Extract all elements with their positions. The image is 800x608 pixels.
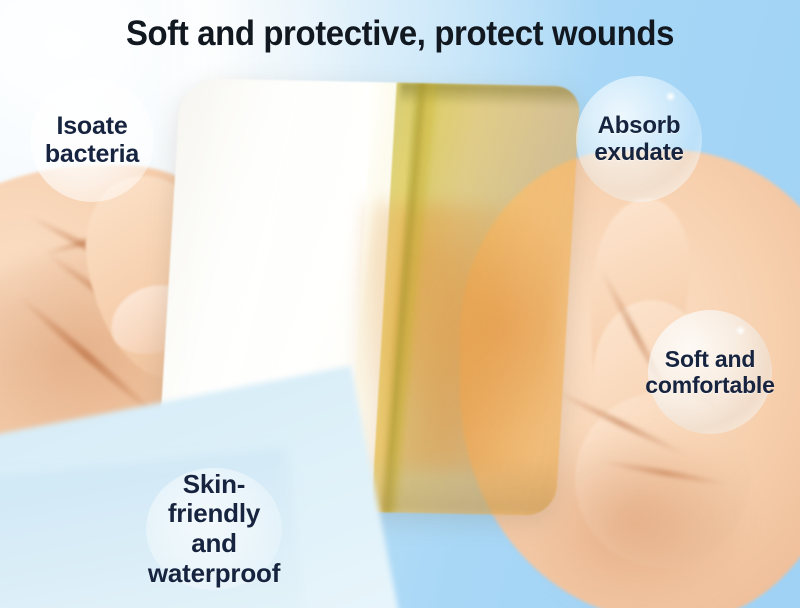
feature-bubble-absorb-exudate-text: Absorb exudate	[576, 112, 702, 167]
product-feature-image: Skin-friendly and waterproof Isoate bact…	[0, 0, 800, 608]
feature-label-line1: Absorb	[576, 112, 702, 139]
feature-label-line1: Skin-friendly	[146, 470, 282, 529]
feature-label-line2: bacteria	[30, 140, 154, 169]
feature-label-line2: comfortable	[645, 372, 774, 398]
feature-bubble-soft-comfortable: Soft and comfortable	[648, 310, 772, 434]
feature-bubble-skin-friendly-text: Skin-friendly and waterproof	[146, 470, 282, 589]
feature-bubble-isolate-bacteria-text: Isoate bacteria	[30, 112, 154, 169]
feature-label-line2: exudate	[576, 139, 702, 166]
headline-title: Soft and protective, protect wounds	[24, 14, 776, 54]
feature-bubble-skin-friendly: Skin-friendly and waterproof	[146, 468, 282, 590]
feature-bubble-soft-comfortable-text: Soft and comfortable	[645, 346, 774, 398]
feature-bubble-isolate-bacteria: Isoate bacteria	[30, 78, 154, 202]
feature-bubble-absorb-exudate: Absorb exudate	[576, 76, 702, 202]
feature-label-line2: and waterproof	[146, 529, 282, 588]
feature-label-line1: Soft and	[645, 346, 774, 372]
feature-label-line1: Isoate	[30, 112, 154, 141]
